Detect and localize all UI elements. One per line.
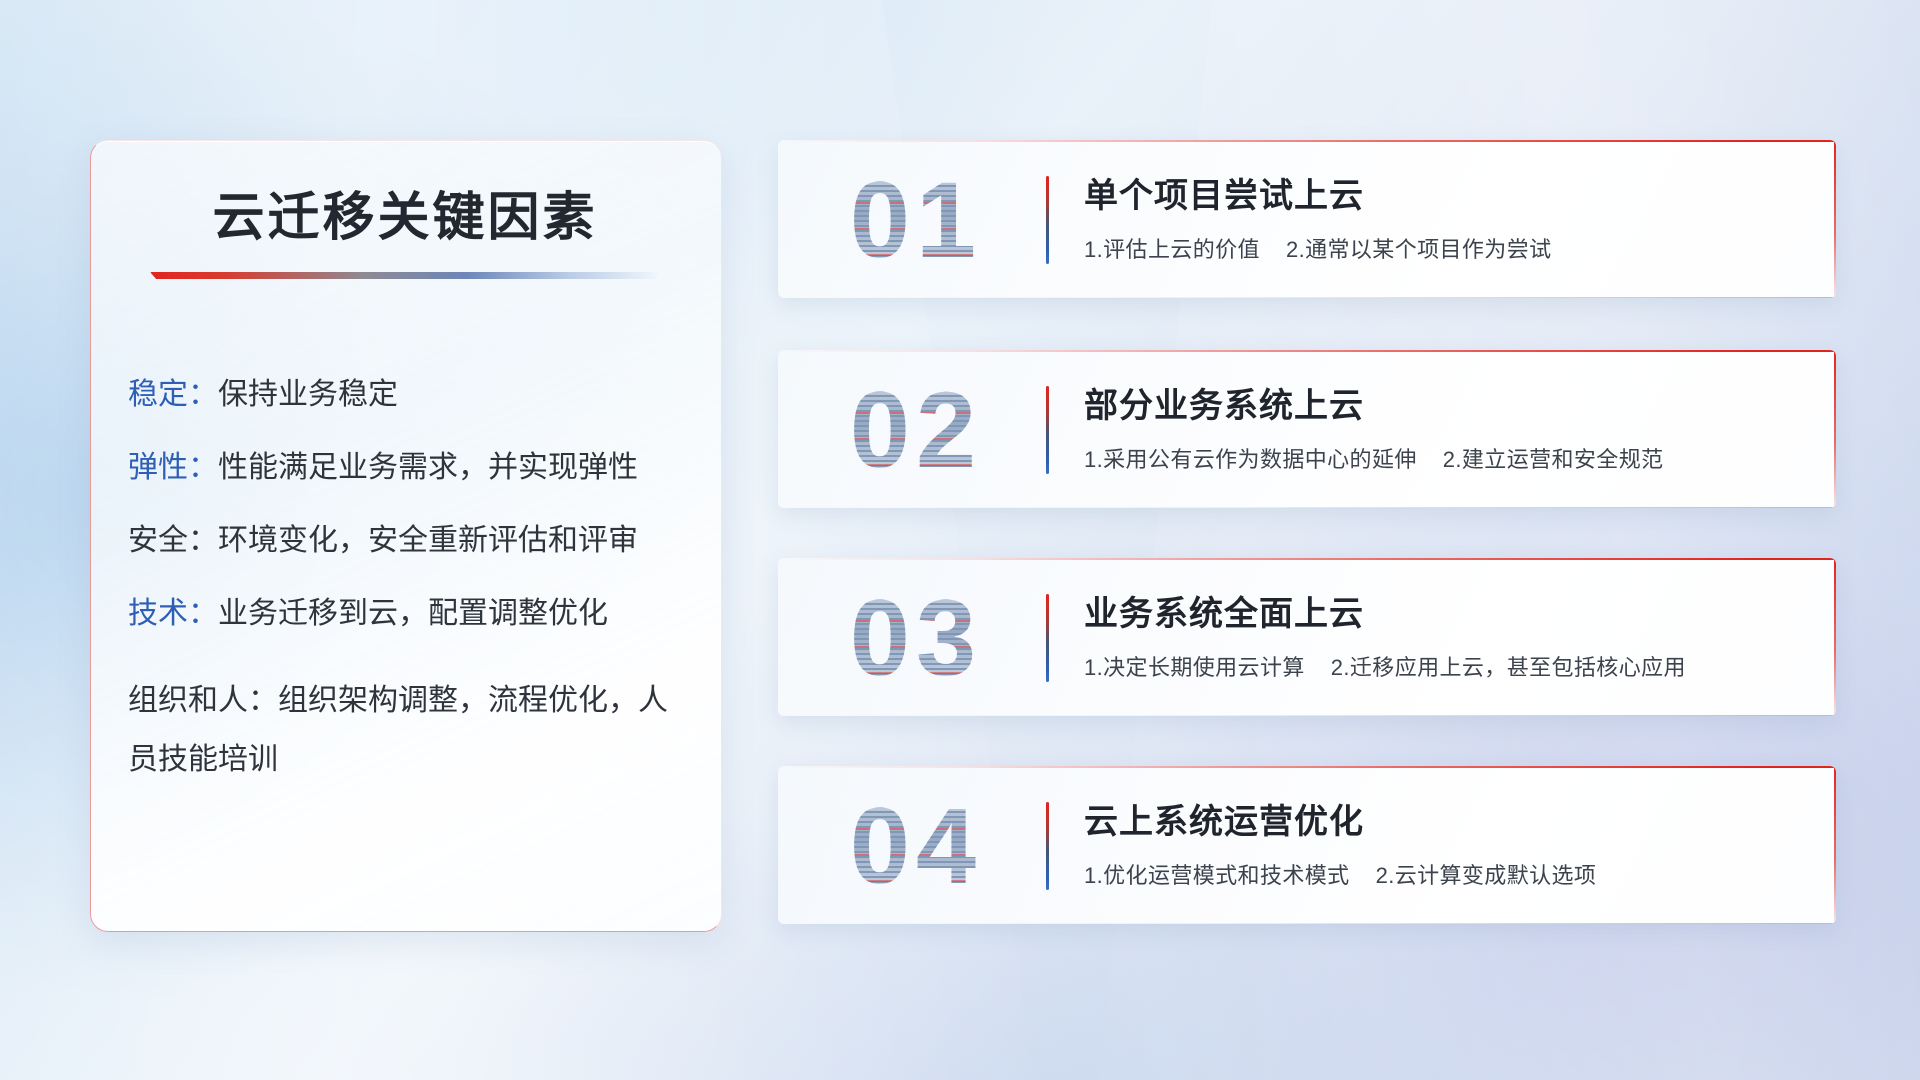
stage-point-1: 1.决定长期使用云计算 [1084, 655, 1305, 680]
stage-divider-bar [1046, 386, 1049, 474]
card-right-accent-line [1834, 140, 1836, 298]
card-bottom-accent-line [778, 715, 1836, 716]
stage-number-glyph: 02 [816, 360, 1016, 500]
stage-points: 1.优化运营模式和技术模式2.云计算变成默认选项 [1084, 858, 1596, 890]
card-right-accent-line [1834, 350, 1836, 508]
slide-canvas: 云迁移关键因素 稳定：保持业务稳定 弹性：性能满足业务需求，并实现弹性 安全：环… [0, 0, 1920, 1080]
stage-point-2: 2.通常以某个项目作为尝试 [1286, 237, 1552, 262]
card-right-accent-line [1834, 558, 1836, 716]
stage-number-glyph: 01 [816, 150, 1016, 290]
stage-card-03[interactable]: 03 03 业务系统全面上云 1.决定长期使用云计算2.迁移应用上云，甚至包括核… [778, 558, 1836, 716]
stage-divider-bar [1046, 594, 1049, 682]
card-bottom-accent-line [778, 507, 1836, 508]
stage-point-1: 1.采用公有云作为数据中心的延伸 [1084, 447, 1417, 472]
card-bottom-accent-line [778, 297, 1836, 298]
stage-number-glyph: 03 [816, 568, 1016, 708]
card-bottom-accent-line [778, 923, 1836, 924]
list-item-label: 稳定： [128, 378, 218, 411]
stage-point-1: 1.评估上云的价值 [1084, 237, 1260, 262]
stage-title: 部分业务系统上云 [1084, 378, 1364, 427]
list-item: 组织和人：组织架构调整，流程优化，人员技能培训 [128, 672, 688, 789]
list-item-label: 技术： [128, 597, 218, 630]
stage-points: 1.决定长期使用云计算2.迁移应用上云，甚至包括核心应用 [1084, 650, 1686, 682]
title-underline-gradient [150, 272, 660, 279]
stage-card-04[interactable]: 04 04 云上系统运营优化 1.优化运营模式和技术模式2.云计算变成默认选项 [778, 766, 1836, 924]
card-top-accent-line [778, 350, 1836, 352]
stage-card-01[interactable]: 01 01 单个项目尝试上云 1.评估上云的价值2.通常以某个项目作为尝试 [778, 140, 1836, 298]
stage-title: 单个项目尝试上云 [1084, 168, 1364, 217]
stage-point-1: 1.优化运营模式和技术模式 [1084, 863, 1350, 888]
list-item-text: 性能满足业务需求，并实现弹性 [218, 451, 638, 484]
stage-point-2: 2.建立运营和安全规范 [1443, 447, 1664, 472]
card-top-accent-line [778, 140, 1836, 142]
stage-point-2: 2.迁移应用上云，甚至包括核心应用 [1331, 655, 1686, 680]
list-item: 稳定：保持业务稳定 [128, 380, 688, 410]
stage-card-02[interactable]: 02 02 部分业务系统上云 1.采用公有云作为数据中心的延伸2.建立运营和安全… [778, 350, 1836, 508]
stage-point-2: 2.云计算变成默认选项 [1376, 863, 1597, 888]
list-item-label: 弹性： [128, 451, 218, 484]
list-item-text: 保持业务稳定 [218, 378, 398, 411]
card-top-accent-line [778, 558, 1836, 560]
list-item-label: 组织和人： [128, 684, 278, 717]
list-item: 技术：业务迁移到云，配置调整优化 [128, 599, 688, 629]
stage-title: 业务系统全面上云 [1084, 586, 1364, 635]
list-item: 弹性：性能满足业务需求，并实现弹性 [128, 453, 688, 483]
key-factors-list: 稳定：保持业务稳定 弹性：性能满足业务需求，并实现弹性 安全：环境变化，安全重新… [128, 380, 688, 832]
page-title: 云迁移关键因素 [90, 175, 720, 250]
list-item: 安全：环境变化，安全重新评估和评审 [128, 526, 688, 556]
card-right-accent-line [1834, 766, 1836, 924]
stage-divider-bar [1046, 176, 1049, 264]
stage-title: 云上系统运营优化 [1084, 794, 1364, 843]
stage-number-glyph: 04 [816, 776, 1016, 916]
stage-points: 1.评估上云的价值2.通常以某个项目作为尝试 [1084, 232, 1552, 264]
list-item-text: 环境变化，安全重新评估和评审 [218, 524, 638, 557]
list-item-text: 业务迁移到云，配置调整优化 [218, 597, 608, 630]
stage-divider-bar [1046, 802, 1049, 890]
card-top-accent-line [778, 766, 1836, 768]
stage-points: 1.采用公有云作为数据中心的延伸2.建立运营和安全规范 [1084, 442, 1664, 474]
list-item-label: 安全： [128, 524, 218, 557]
